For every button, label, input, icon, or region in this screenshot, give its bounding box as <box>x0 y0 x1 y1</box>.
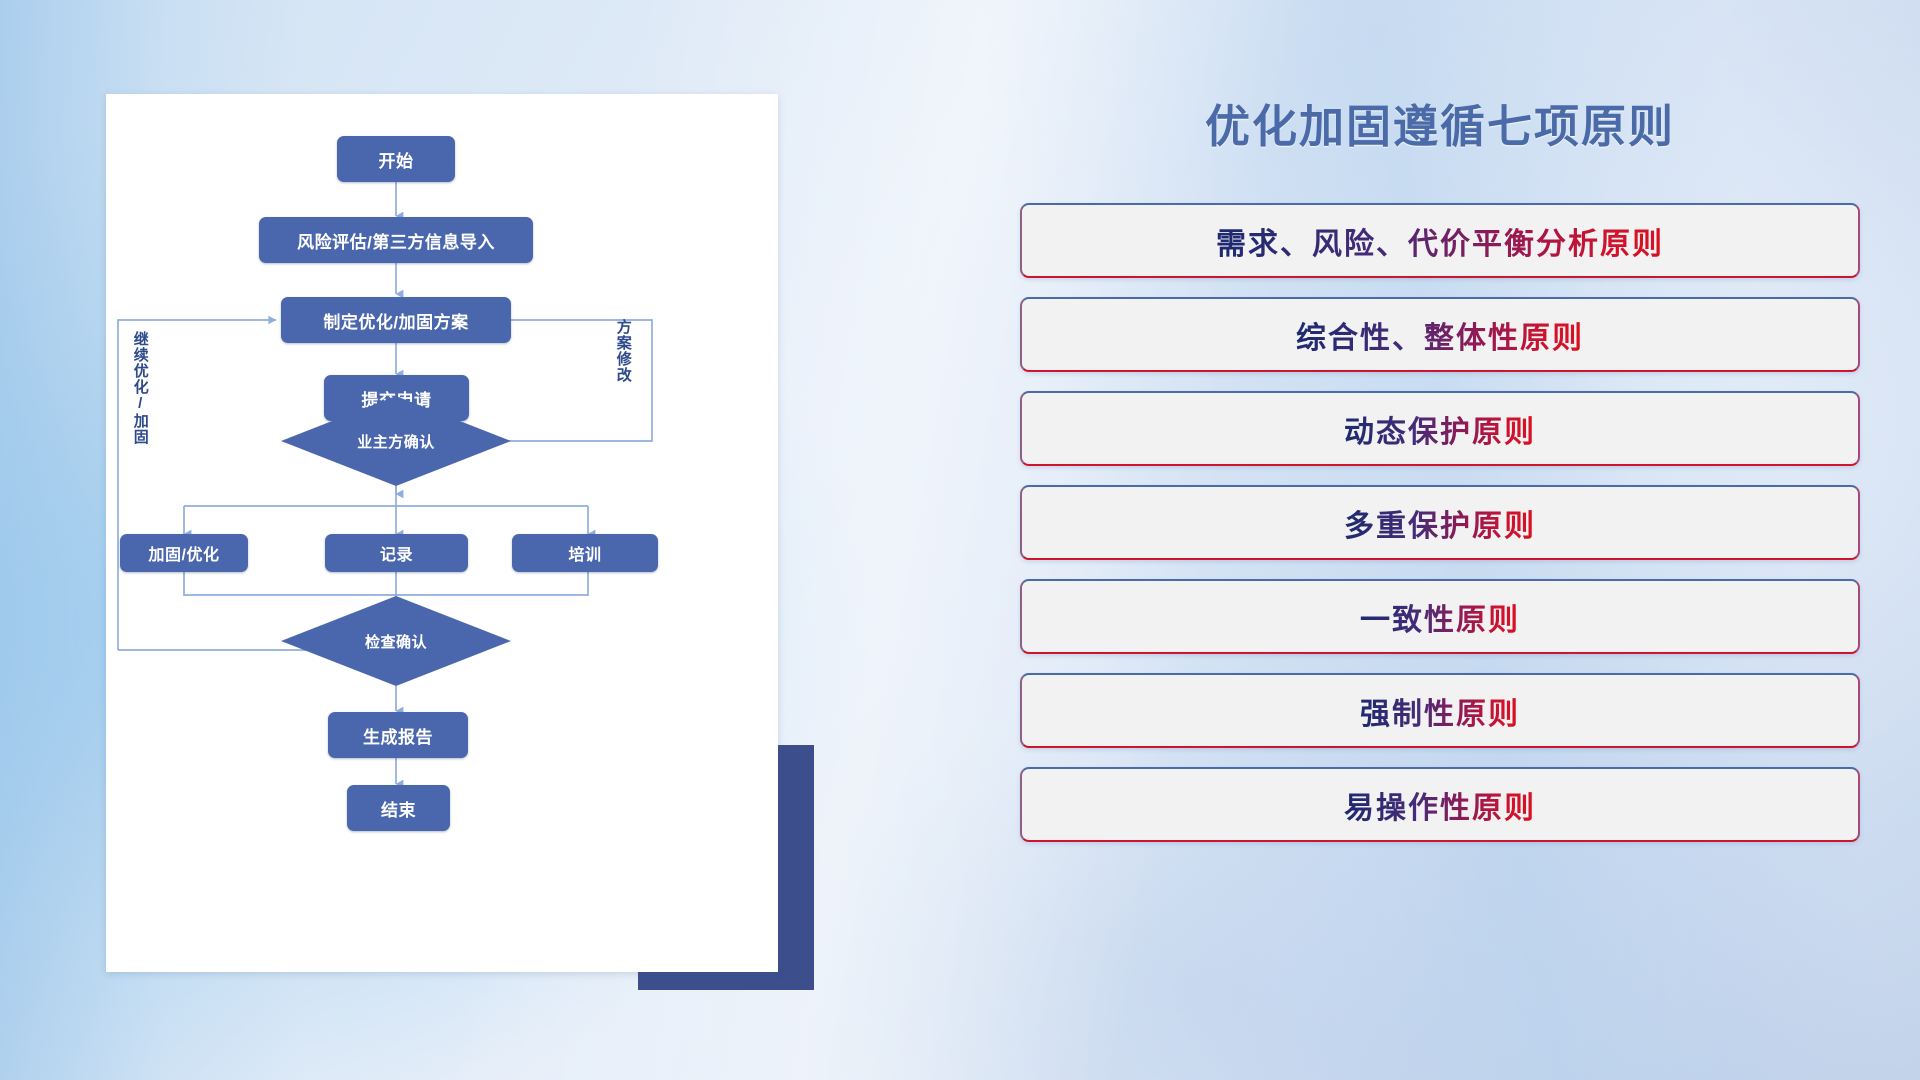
flow-node-training[interactable]: 培训 <box>512 534 658 572</box>
flow-node-label: 制定优化/加固方案 <box>323 308 468 333</box>
flow-node-record[interactable]: 记录 <box>325 534 468 572</box>
flow-node-generate-report[interactable]: 生成报告 <box>328 712 468 758</box>
principle-card[interactable]: 一致性原则 <box>1020 579 1860 654</box>
flow-node-end[interactable]: 结束 <box>347 785 450 831</box>
principle-card[interactable]: 易操作性原则 <box>1020 767 1860 842</box>
flow-node-label: 开始 <box>379 147 414 172</box>
principle-card[interactable]: 综合性、整体性原则 <box>1020 297 1860 372</box>
principles-pane: 优化加固遵循七项原则 需求、风险、代价平衡分析原则 综合性、整体性原则 动态保护… <box>1020 90 1860 842</box>
slide-canvas: 开始 风险评估/第三方信息导入 制定优化/加固方案 提交申请 业主方确认 加固/… <box>0 0 1920 1080</box>
flow-node-label: 培训 <box>568 541 601 565</box>
flow-node-risk-assessment[interactable]: 风险评估/第三方信息导入 <box>259 217 533 263</box>
flow-node-reinforce-optimize[interactable]: 加固/优化 <box>120 534 248 572</box>
principle-label: 动态保护原则 <box>1344 407 1536 451</box>
flow-edge-label-plan-revision: 方案修改 <box>615 319 631 429</box>
principles-title: 优化加固遵循七项原则 <box>1020 90 1860 155</box>
principles-list: 需求、风险、代价平衡分析原则 综合性、整体性原则 动态保护原则 多重保护原则 一… <box>1020 203 1860 842</box>
flow-node-label: 风险评估/第三方信息导入 <box>297 228 495 253</box>
flow-edge-label-continue-optimize: 继续优化/加固 <box>132 331 148 471</box>
flow-node-check-confirm[interactable]: 检查确认 <box>281 596 511 686</box>
flow-node-label: 业主方确认 <box>281 396 511 486</box>
flow-node-label: 加固/优化 <box>149 541 220 565</box>
flow-node-label: 检查确认 <box>281 596 511 686</box>
principle-card[interactable]: 强制性原则 <box>1020 673 1860 748</box>
principle-card[interactable]: 动态保护原则 <box>1020 391 1860 466</box>
principle-label: 易操作性原则 <box>1344 783 1536 827</box>
principle-label: 一致性原则 <box>1360 595 1520 639</box>
flow-node-plan[interactable]: 制定优化/加固方案 <box>281 297 511 343</box>
flowchart-panel: 开始 风险评估/第三方信息导入 制定优化/加固方案 提交申请 业主方确认 加固/… <box>106 94 778 972</box>
flow-node-owner-confirm[interactable]: 业主方确认 <box>281 396 511 486</box>
flow-node-label: 结束 <box>381 796 416 821</box>
principle-label: 需求、风险、代价平衡分析原则 <box>1216 219 1664 263</box>
principle-label: 综合性、整体性原则 <box>1296 313 1584 357</box>
principle-card[interactable]: 多重保护原则 <box>1020 485 1860 560</box>
principle-label: 多重保护原则 <box>1344 501 1536 545</box>
principle-label: 强制性原则 <box>1360 689 1520 733</box>
flow-node-start[interactable]: 开始 <box>337 136 455 182</box>
flow-node-label: 记录 <box>380 541 413 565</box>
principle-card[interactable]: 需求、风险、代价平衡分析原则 <box>1020 203 1860 278</box>
flow-node-label: 生成报告 <box>363 723 433 748</box>
